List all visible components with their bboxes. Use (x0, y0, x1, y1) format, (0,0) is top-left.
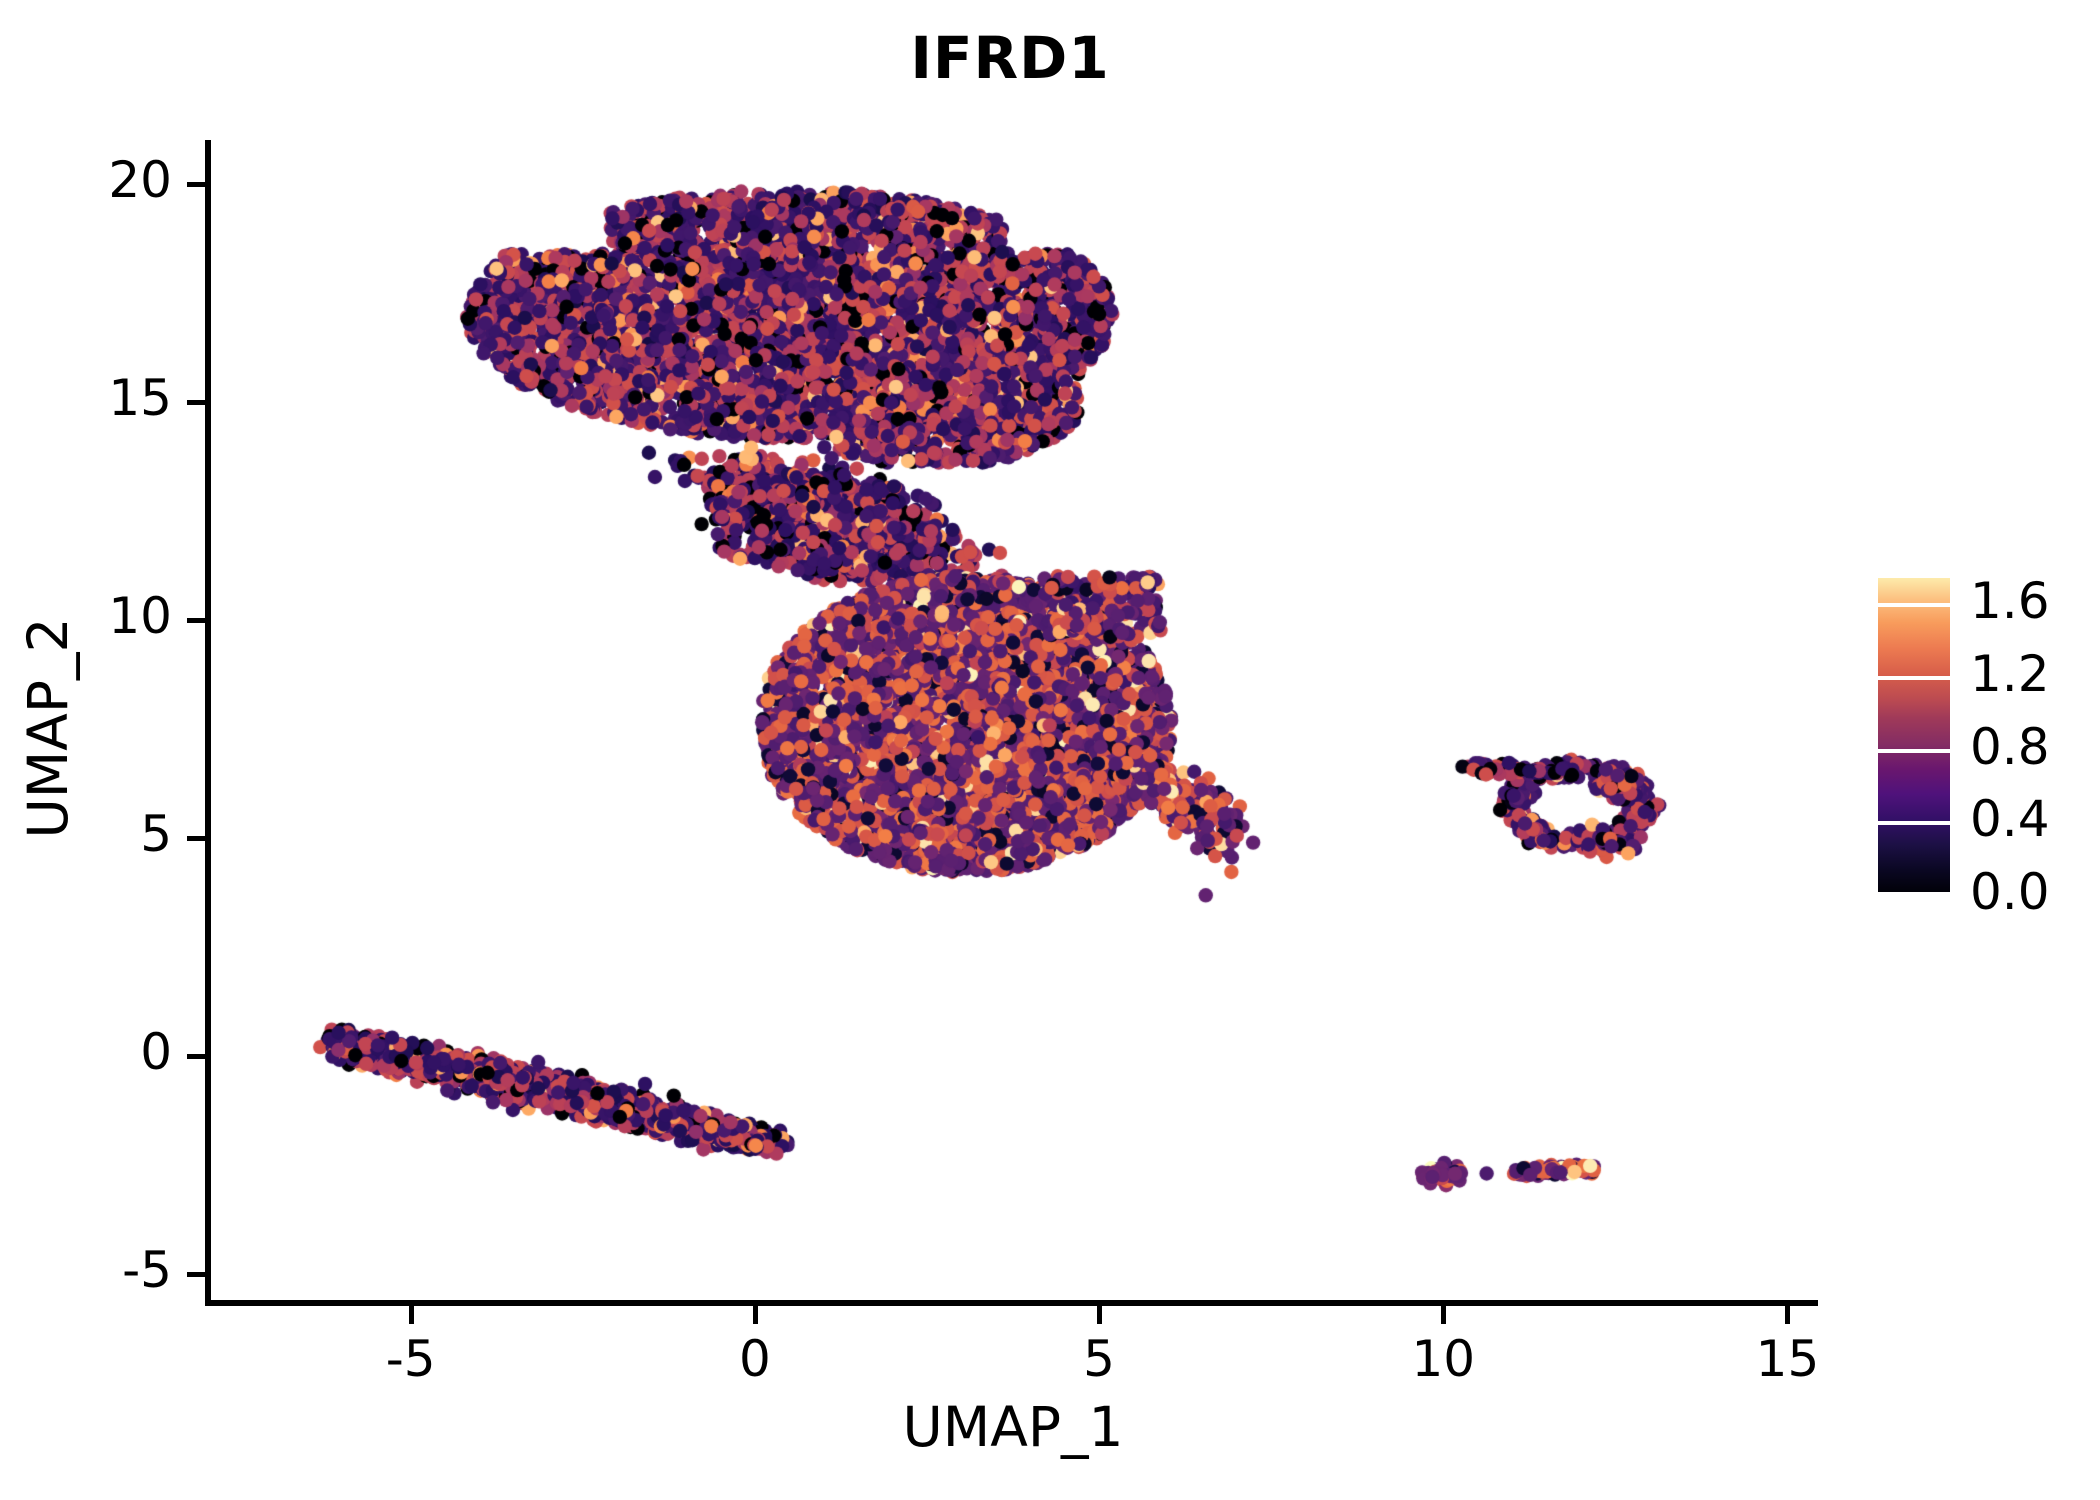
x-tick-label: 15 (1707, 1330, 1867, 1388)
colorbar-tick-label: 0.4 (1970, 790, 2050, 848)
x-tick-mark (753, 1306, 758, 1324)
colorbar-tick-mark (1878, 749, 1950, 753)
colorbar-gradient (1878, 578, 1950, 896)
x-tick-mark (1441, 1306, 1446, 1324)
colorbar-tick-mark (1878, 892, 1950, 896)
page-title: IFRD1 (0, 24, 2020, 92)
x-tick-mark (1785, 1306, 1790, 1324)
colorbar-tick-mark (1878, 821, 1950, 825)
x-tick-mark (1097, 1306, 1102, 1324)
colorbar-tick-mark (1878, 676, 1950, 680)
y-tick-mark (187, 618, 205, 623)
x-tick-label: -5 (331, 1330, 491, 1388)
y-axis-label: UMAP_2 (16, 148, 80, 1308)
x-axis-spine (205, 1300, 1818, 1306)
colorbar-tick-label: 0.0 (1970, 863, 2050, 921)
scatter-plot-canvas (211, 140, 1815, 1300)
x-tick-label: 0 (675, 1330, 835, 1388)
y-tick-mark (187, 182, 205, 187)
x-tick-mark (409, 1306, 414, 1324)
y-tick-mark (187, 836, 205, 841)
x-axis-label: UMAP_1 (211, 1395, 1815, 1459)
x-tick-label: 10 (1363, 1330, 1523, 1388)
x-tick-label: 5 (1019, 1330, 1179, 1388)
colorbar-tick-label: 0.8 (1970, 718, 2050, 776)
colorbar-tick-mark (1878, 603, 1950, 607)
figure-root: IFRD1 -5051015 -505101520 UMAP_1 UMAP_2 … (0, 0, 2100, 1500)
colorbar-tick-label: 1.2 (1970, 645, 2050, 703)
y-tick-mark (187, 1272, 205, 1277)
y-tick-mark (187, 1054, 205, 1059)
y-tick-mark (187, 400, 205, 405)
colorbar-tick-label: 1.6 (1970, 572, 2050, 630)
